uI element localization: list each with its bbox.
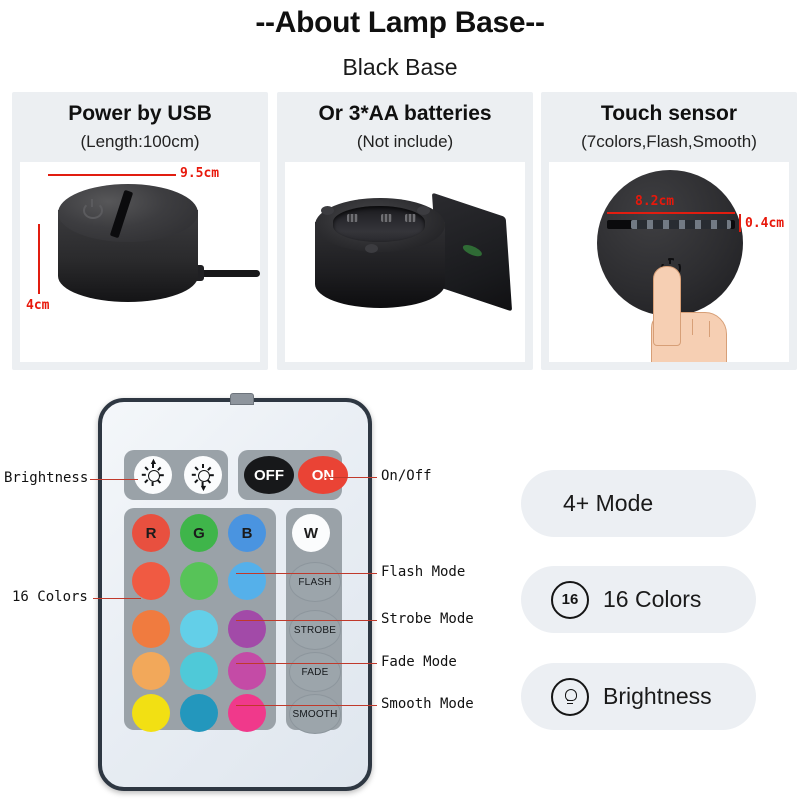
battery-contact-spring [405, 214, 416, 222]
lamp-base-side-photo: 9.5cm 4cm [20, 162, 260, 362]
brightness-down-button[interactable]: ▼ [184, 456, 222, 494]
battery-contact-spring [347, 214, 358, 222]
panel-aa-batteries: Or 3*AA batteries (Not include) [277, 92, 533, 370]
finger-crease [709, 321, 710, 337]
color-button[interactable] [132, 694, 170, 732]
page-title: --About Lamp Base-- [0, 6, 800, 40]
width-dimension-label: 9.5cm [180, 166, 219, 181]
callout-16colors-label: 16 Colors [12, 589, 88, 605]
color-button-w[interactable]: W [292, 514, 330, 552]
off-button[interactable]: OFF [244, 456, 294, 494]
callout-flash-line [236, 573, 377, 574]
color-button-g[interactable]: G [180, 514, 218, 552]
ir-emitter [230, 393, 254, 405]
panel-subtitle: (Not include) [277, 132, 533, 152]
battery-compartment-well [333, 206, 425, 242]
battery-compartment-photo [285, 162, 525, 362]
color-button[interactable] [228, 694, 266, 732]
sun-down-icon: ▼ [193, 465, 213, 485]
color-button-r[interactable]: R [132, 514, 170, 552]
callout-strobe-label: Strobe Mode [381, 611, 474, 627]
panel-title: Power by USB [12, 102, 268, 126]
slot-width-dimension-line [607, 212, 735, 214]
color-button[interactable] [180, 610, 218, 648]
color-button[interactable] [228, 610, 266, 648]
led-strip [631, 220, 731, 229]
color-button[interactable] [180, 694, 218, 732]
slot-depth-dimension-label: 0.4cm [745, 216, 784, 231]
height-dimension-line [38, 224, 40, 294]
flash-mode-button[interactable]: FLASH [289, 562, 341, 602]
panel-title: Or 3*AA batteries [277, 102, 533, 126]
panel-power-by-usb: Power by USB (Length:100cm) 9.5cm 4cm [12, 92, 268, 370]
fade-mode-button[interactable]: FADE [289, 652, 341, 692]
callout-onoff-line [325, 477, 377, 478]
color-button[interactable] [228, 652, 266, 690]
finger-crease [692, 319, 693, 335]
callout-brightness-label: Brightness [4, 470, 88, 486]
spec-panels: Power by USB (Length:100cm) 9.5cm 4cm Or… [0, 92, 800, 372]
touch-sensor-icon [83, 202, 103, 219]
callout-fade-label: Fade Mode [381, 654, 457, 670]
panel-touch-sensor: Touch sensor (7colors,Flash,Smooth) 8.2c… [541, 92, 797, 370]
base-screw [365, 244, 378, 253]
callout-onoff-label: On/Off [381, 468, 432, 484]
callout-fade-line [236, 663, 377, 664]
color-button[interactable] [180, 562, 218, 600]
callout-smooth-line [236, 705, 377, 706]
page-subtitle: Black Base [0, 54, 800, 81]
strobe-mode-button[interactable]: STROBE [289, 610, 341, 650]
width-dimension-line [48, 174, 176, 176]
color-button[interactable] [180, 652, 218, 690]
feature-label: 16 Colors [603, 586, 701, 613]
color-button-b[interactable]: B [228, 514, 266, 552]
panel-subtitle: (Length:100cm) [12, 132, 268, 152]
feature-card-mode: 4+ Mode [521, 470, 756, 537]
feature-card-brightness: Brightness [521, 663, 756, 730]
callout-brightness-line [90, 479, 138, 480]
callout-strobe-line [236, 620, 377, 621]
slot-depth-dimension-line [739, 214, 741, 232]
feature-card-colors: 16 16 Colors [521, 566, 756, 633]
brightness-bulb-icon [551, 678, 589, 716]
sixteen-colors-icon: 16 [551, 581, 589, 619]
color-button[interactable] [132, 652, 170, 690]
brightness-up-button[interactable]: ▲ [134, 456, 172, 494]
panel-subtitle: (7colors,Flash,Smooth) [541, 132, 797, 152]
feature-label: Brightness [603, 683, 712, 710]
height-dimension-label: 4cm [26, 298, 49, 313]
color-button[interactable] [132, 562, 170, 600]
callout-16colors-line [93, 598, 141, 599]
feature-label: 4+ Mode [563, 490, 653, 517]
color-button[interactable] [132, 610, 170, 648]
base-screw [321, 206, 334, 215]
sun-up-icon: ▲ [143, 465, 163, 485]
lamp-base-top-photo: 8.2cm 0.4cm [549, 162, 789, 362]
slot-width-dimension-label: 8.2cm [635, 194, 674, 209]
callout-smooth-label: Smooth Mode [381, 696, 474, 712]
smooth-mode-button[interactable]: SMOOTH [289, 694, 341, 734]
callout-flash-label: Flash Mode [381, 564, 465, 580]
on-button[interactable]: ON [298, 456, 348, 494]
base-screw [417, 206, 430, 215]
panel-title: Touch sensor [541, 102, 797, 126]
battery-cover-label [463, 243, 483, 259]
remote-control: ▲ ▼ OFF ON R G B W FLASH [98, 398, 372, 791]
pointing-finger [653, 266, 681, 346]
color-button[interactable] [228, 562, 266, 600]
battery-contact-spring [381, 214, 392, 222]
